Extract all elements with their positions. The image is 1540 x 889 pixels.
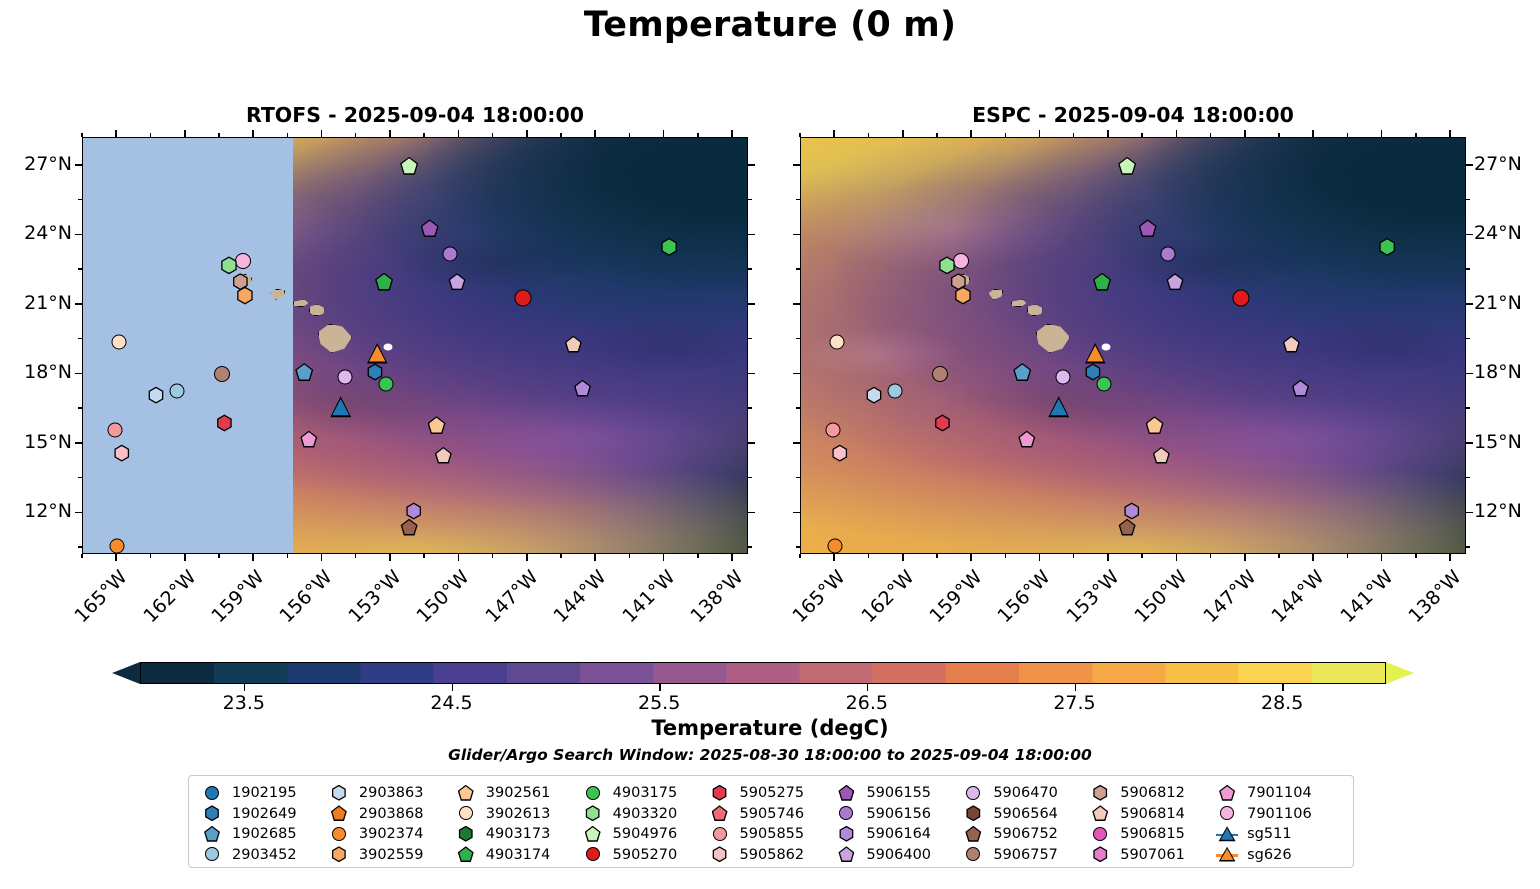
lon-minor-tick	[1005, 133, 1007, 137]
lon-minor-tick	[560, 554, 562, 558]
legend-item-label: 1902685	[232, 826, 297, 842]
espc-map-panel[interactable]	[800, 137, 1466, 554]
legend-item[interactable]: 7901104	[1216, 783, 1343, 804]
legend-item[interactable]: 1902685	[201, 824, 328, 845]
lat-label-left: 27°N	[10, 153, 72, 175]
lon-tick	[731, 554, 733, 561]
legend-marker-icon	[328, 805, 350, 822]
legend-item[interactable]: 7901106	[1216, 804, 1343, 825]
colorbar-tick	[1075, 684, 1076, 691]
legend-item[interactable]: 1902195	[201, 783, 328, 804]
legend-item-label: 7901106	[1247, 806, 1312, 822]
legend-item-label: 2903863	[359, 785, 424, 801]
legend-marker-icon	[835, 805, 857, 822]
legend-marker-icon	[328, 785, 350, 802]
lon-minor-tick	[1141, 554, 1143, 558]
lat-tick	[793, 512, 800, 514]
lon-tick	[731, 130, 733, 137]
argo-marker-7901106[interactable]	[235, 253, 251, 269]
legend-item[interactable]: 2903863	[328, 783, 455, 804]
lon-minor-tick	[492, 554, 494, 558]
lon-label: 141°W	[1335, 566, 1397, 628]
legend-item-label: 5905275	[740, 785, 805, 801]
lat-tick	[748, 164, 755, 166]
lat-minor-tick	[78, 546, 82, 548]
legend-item-label: 5907061	[1120, 847, 1185, 863]
legend-item[interactable]: sg626	[1216, 845, 1343, 866]
lon-minor-tick	[355, 133, 357, 137]
colorbar-tick-label: 25.5	[638, 692, 680, 714]
lon-tick	[252, 554, 254, 561]
lon-tick	[1244, 130, 1246, 137]
legend-marker-icon	[582, 826, 604, 843]
lon-minor-tick	[355, 554, 357, 558]
lon-minor-tick	[936, 133, 938, 137]
colorbar-gradient	[140, 662, 1386, 684]
argo-marker-3902613[interactable]	[830, 334, 845, 349]
legend-item[interactable]: 5905270	[582, 845, 709, 866]
lat-tick	[75, 512, 82, 514]
legend-item[interactable]: 4903173	[455, 824, 582, 845]
lon-minor-tick	[697, 133, 699, 137]
legend-item[interactable]: 5906400	[835, 845, 962, 866]
colorbar-tick	[452, 684, 453, 691]
lat-label-right: 18°N	[1474, 361, 1522, 383]
legend-item-label: 4903173	[486, 826, 551, 842]
lon-minor-tick	[1347, 554, 1349, 558]
page-title: Temperature (0 m)	[0, 5, 1540, 45]
lat-label-right: 24°N	[1474, 222, 1522, 244]
legend-item[interactable]: 2903452	[201, 845, 328, 866]
legend-item[interactable]: 3902374	[328, 824, 455, 845]
legend-item[interactable]: 5906470	[962, 783, 1089, 804]
colorbar-high-extend	[1386, 662, 1414, 684]
lon-tick	[1039, 554, 1041, 561]
lat-label-right: 21°N	[1474, 292, 1522, 314]
legend-item-label: 5906814	[1120, 806, 1185, 822]
legend-marker-icon	[709, 826, 731, 843]
lon-tick	[594, 130, 596, 137]
lon-label: 147°W	[1198, 566, 1260, 628]
legend-item[interactable]: 4903174	[455, 845, 582, 866]
lat-tick	[75, 442, 82, 444]
colorbar-tick-label: 23.5	[223, 692, 265, 714]
legend-item-label: 5906757	[993, 847, 1058, 863]
legend-marker-icon	[582, 805, 604, 822]
lon-minor-tick	[287, 133, 289, 137]
legend-marker-icon	[835, 785, 857, 802]
legend-item[interactable]: 3902559	[328, 845, 455, 866]
lon-tick	[902, 554, 904, 561]
legend-item[interactable]: 5906164	[835, 824, 962, 845]
lon-minor-tick	[1141, 133, 1143, 137]
lon-minor-tick	[81, 554, 83, 558]
argo-marker-5906156[interactable]	[1161, 246, 1176, 261]
rtofs-panel-title: RTOFS - 2025-09-04 18:00:00	[82, 103, 748, 127]
lon-label: 138°W	[1403, 566, 1465, 628]
lon-label: 162°W	[856, 566, 918, 628]
argo-marker-7901106[interactable]	[953, 253, 969, 269]
legend-item-label: 3902559	[359, 847, 424, 863]
legend-item-label: sg511	[1247, 826, 1291, 842]
lon-minor-tick	[492, 133, 494, 137]
legend-marker-icon	[1216, 805, 1238, 822]
lon-minor-tick	[1073, 554, 1075, 558]
lon-tick	[594, 554, 596, 561]
lat-tick	[75, 303, 82, 305]
legend-item-label: 7901104	[1247, 785, 1312, 801]
espc-contour-texture	[801, 138, 1465, 553]
legend-item[interactable]: 5906564	[962, 804, 1089, 825]
lon-tick	[389, 554, 391, 561]
lon-tick	[1176, 554, 1178, 561]
legend-item[interactable]: 5905855	[709, 824, 836, 845]
lon-tick	[115, 130, 117, 137]
lat-label-left: 15°N	[10, 431, 72, 453]
lat-minor-tick	[796, 546, 800, 548]
lat-tick	[748, 373, 755, 375]
lon-tick	[663, 554, 665, 561]
lon-tick	[115, 554, 117, 561]
legend-item[interactable]: 5905275	[709, 783, 836, 804]
lon-minor-tick	[150, 133, 152, 137]
lat-minor-tick	[796, 407, 800, 409]
lon-minor-tick	[218, 554, 220, 558]
legend-marker-icon	[201, 805, 223, 822]
lon-tick	[1244, 554, 1246, 561]
legend-item-label: 5904976	[613, 826, 678, 842]
lat-tick	[748, 303, 755, 305]
legend-item-label: 2903452	[232, 847, 297, 863]
lon-tick	[321, 554, 323, 561]
lat-minor-tick	[1466, 477, 1470, 479]
colorbar-tick-label: 26.5	[846, 692, 888, 714]
argo-marker-5906470[interactable]	[1056, 369, 1071, 384]
legend-item-label: 2903868	[359, 806, 424, 822]
lon-tick	[833, 554, 835, 561]
lat-minor-tick	[1466, 407, 1470, 409]
lon-tick	[1176, 130, 1178, 137]
legend-item-label: 4903320	[613, 806, 678, 822]
colorbar-tick	[659, 684, 660, 691]
legend-item[interactable]: 5906156	[835, 804, 962, 825]
legend-marker-icon	[1089, 826, 1111, 843]
lat-tick	[748, 442, 755, 444]
legend-marker-icon	[835, 826, 857, 843]
lon-tick	[1107, 130, 1109, 137]
lon-minor-tick	[629, 133, 631, 137]
lon-tick	[526, 130, 528, 137]
legend-marker-icon	[1089, 846, 1111, 863]
colorbar-label: Temperature (degC)	[0, 716, 1540, 740]
lon-label: 162°W	[138, 566, 200, 628]
lon-tick	[970, 554, 972, 561]
lon-minor-tick	[1073, 133, 1075, 137]
lat-minor-tick	[748, 407, 752, 409]
lat-minor-tick	[796, 477, 800, 479]
lon-tick	[833, 130, 835, 137]
lon-label: 150°W	[412, 566, 474, 628]
lat-minor-tick	[796, 338, 800, 340]
legend-marker-icon	[328, 826, 350, 843]
colorbar-tick	[1282, 684, 1283, 691]
lat-minor-tick	[748, 199, 752, 201]
lon-label: 159°W	[206, 566, 268, 628]
lat-minor-tick	[748, 477, 752, 479]
argo-marker-5906156[interactable]	[443, 246, 458, 261]
lon-label: 159°W	[924, 566, 986, 628]
lon-label: 138°W	[685, 566, 747, 628]
argo-marker-3902613[interactable]	[112, 334, 127, 349]
lon-minor-tick	[799, 554, 801, 558]
legend-item[interactable]: 3902613	[455, 804, 582, 825]
lat-tick	[1466, 442, 1473, 444]
lat-label-right: 27°N	[1474, 153, 1522, 175]
lat-minor-tick	[1466, 268, 1470, 270]
lon-minor-tick	[1415, 133, 1417, 137]
lat-tick	[793, 303, 800, 305]
lat-minor-tick	[1466, 546, 1470, 548]
legend-item-label: 5906815	[1120, 826, 1185, 842]
argo-marker-5905270[interactable]	[515, 289, 532, 306]
lat-minor-tick	[1466, 338, 1470, 340]
lat-label-left: 12°N	[10, 500, 72, 522]
lon-label: 141°W	[617, 566, 679, 628]
legend-marker-icon	[709, 785, 731, 802]
legend-marker-icon	[709, 805, 731, 822]
argo-marker-4903175[interactable]	[379, 376, 394, 391]
legend-item-label: 5905855	[740, 826, 805, 842]
glider-track-sg626	[384, 344, 393, 351]
lat-tick	[1466, 512, 1473, 514]
legend-item-label: 5906752	[993, 826, 1058, 842]
lat-minor-tick	[1466, 199, 1470, 201]
legend-item[interactable]: 5906752	[962, 824, 1089, 845]
lon-tick	[902, 130, 904, 137]
colorbar: 23.524.525.526.527.528.5	[112, 662, 1414, 684]
legend-item[interactable]: 5906757	[962, 845, 1089, 866]
legend-item[interactable]: 5906155	[835, 783, 962, 804]
legend-marker-icon	[455, 846, 477, 863]
lon-tick	[970, 130, 972, 137]
lat-tick	[1466, 164, 1473, 166]
lon-minor-tick	[868, 133, 870, 137]
legend-item-label: 3902613	[486, 806, 551, 822]
lon-minor-tick	[799, 133, 801, 137]
lon-minor-tick	[218, 133, 220, 137]
lon-label: 153°W	[343, 566, 405, 628]
legend-item-label: 4903175	[613, 785, 678, 801]
legend-item[interactable]: 4903175	[582, 783, 709, 804]
rtofs-map-panel[interactable]	[82, 137, 748, 554]
legend-marker-icon	[455, 805, 477, 822]
legend-marker-icon	[455, 826, 477, 843]
colorbar-tick	[867, 684, 868, 691]
argo-marker-5906470[interactable]	[338, 369, 353, 384]
lon-tick	[252, 130, 254, 137]
legend-item-label: 5906812	[1120, 785, 1185, 801]
lon-label: 156°W	[993, 566, 1055, 628]
search-window-note: Glider/Argo Search Window: 2025-08-30 18…	[0, 746, 1540, 764]
lon-tick	[184, 554, 186, 561]
espc-panel-title: ESPC - 2025-09-04 18:00:00	[800, 103, 1466, 127]
lat-tick	[793, 373, 800, 375]
legend-item[interactable]: 5904976	[582, 824, 709, 845]
lat-minor-tick	[796, 199, 800, 201]
legend-marker-icon	[1216, 846, 1238, 863]
argo-marker-5905855[interactable]	[107, 422, 122, 437]
lat-tick	[793, 164, 800, 166]
lat-minor-tick	[748, 338, 752, 340]
lat-tick	[75, 164, 82, 166]
lat-label-right: 12°N	[1474, 500, 1522, 522]
legend-grid: 1902195190264919026852903452290386329038…	[201, 783, 1343, 865]
legend-marker-icon	[962, 805, 984, 822]
lon-tick	[458, 554, 460, 561]
legend-item-label: 3902561	[486, 785, 551, 801]
lon-tick	[663, 130, 665, 137]
lon-minor-tick	[1005, 554, 1007, 558]
legend-item-label: 5906155	[866, 785, 931, 801]
lon-tick	[184, 130, 186, 137]
lat-tick	[1466, 373, 1473, 375]
lon-minor-tick	[1210, 554, 1212, 558]
lat-tick	[793, 442, 800, 444]
legend-item-label: 4903174	[486, 847, 551, 863]
lon-minor-tick	[629, 554, 631, 558]
marker-legend: 1902195190264919026852903452290386329038…	[188, 775, 1354, 868]
glider-track-sg626	[1102, 344, 1111, 351]
lon-tick	[1381, 554, 1383, 561]
argo-marker-5905855[interactable]	[825, 422, 840, 437]
argo-marker-5905270[interactable]	[1233, 289, 1250, 306]
lon-minor-tick	[81, 133, 83, 137]
colorbar-tick-label: 28.5	[1261, 692, 1303, 714]
legend-item-label: sg626	[1247, 847, 1291, 863]
lat-tick	[75, 234, 82, 236]
colorbar-tick-label: 24.5	[430, 692, 472, 714]
colorbar-low-extend	[112, 662, 140, 684]
lat-minor-tick	[78, 477, 82, 479]
lat-minor-tick	[748, 268, 752, 270]
lat-minor-tick	[796, 268, 800, 270]
lat-minor-tick	[78, 268, 82, 270]
legend-item[interactable]: 1902649	[201, 804, 328, 825]
legend-item-label: 3902374	[359, 826, 424, 842]
legend-item-label: 5905746	[740, 806, 805, 822]
lon-tick	[526, 554, 528, 561]
legend-marker-icon	[1089, 805, 1111, 822]
lat-minor-tick	[78, 199, 82, 201]
legend-item-label: 1902649	[232, 806, 297, 822]
lon-tick	[1449, 554, 1451, 561]
legend-marker-icon	[709, 846, 731, 863]
argo-marker-2903452[interactable]	[169, 383, 184, 398]
legend-item[interactable]: 3902561	[455, 783, 582, 804]
argo-marker-4903175[interactable]	[1097, 376, 1112, 391]
lat-label-left: 18°N	[10, 361, 72, 383]
lat-tick	[793, 234, 800, 236]
lat-tick	[1466, 303, 1473, 305]
lon-minor-tick	[1210, 133, 1212, 137]
lon-minor-tick	[560, 133, 562, 137]
lon-minor-tick	[1278, 554, 1280, 558]
legend-item-label: 5906470	[993, 785, 1058, 801]
lon-tick	[1381, 130, 1383, 137]
legend-marker-icon	[201, 785, 223, 802]
legend-item[interactable]: 5907061	[1089, 845, 1216, 866]
lat-minor-tick	[78, 407, 82, 409]
legend-item-label: 5906400	[866, 847, 931, 863]
argo-marker-5906757[interactable]	[932, 366, 948, 382]
legend-marker-icon	[582, 785, 604, 802]
legend-marker-icon	[1216, 785, 1238, 802]
legend-item-label: 5906564	[993, 806, 1058, 822]
lon-minor-tick	[936, 554, 938, 558]
legend-item[interactable]: 5906814	[1089, 804, 1216, 825]
lon-label: 153°W	[1061, 566, 1123, 628]
lon-label: 156°W	[275, 566, 337, 628]
legend-marker-icon	[582, 846, 604, 863]
legend-item[interactable]: 5906815	[1089, 824, 1216, 845]
legend-marker-icon	[201, 826, 223, 843]
legend-marker-icon	[455, 785, 477, 802]
lon-tick	[321, 130, 323, 137]
legend-marker-icon	[1216, 826, 1238, 843]
lon-minor-tick	[287, 554, 289, 558]
lon-label: 144°W	[1267, 566, 1329, 628]
lon-tick	[389, 130, 391, 137]
lat-label-left: 21°N	[10, 292, 72, 314]
lon-tick	[458, 130, 460, 137]
legend-item[interactable]: 5905746	[709, 804, 836, 825]
lat-minor-tick	[78, 338, 82, 340]
legend-marker-icon	[962, 826, 984, 843]
lon-minor-tick	[868, 554, 870, 558]
lon-minor-tick	[150, 554, 152, 558]
lon-minor-tick	[1415, 554, 1417, 558]
legend-item-label: 1902195	[232, 785, 297, 801]
legend-item[interactable]: 5906812	[1089, 783, 1216, 804]
legend-marker-icon	[201, 846, 223, 863]
legend-marker-icon	[962, 785, 984, 802]
legend-marker-icon	[328, 846, 350, 863]
argo-marker-2903452[interactable]	[887, 383, 902, 398]
lon-label: 150°W	[1130, 566, 1192, 628]
lon-minor-tick	[1278, 133, 1280, 137]
lat-tick	[75, 373, 82, 375]
legend-marker-icon	[962, 846, 984, 863]
legend-marker-icon	[835, 846, 857, 863]
legend-item[interactable]: 5905862	[709, 845, 836, 866]
legend-item[interactable]: 2903868	[328, 804, 455, 825]
lon-label: 147°W	[480, 566, 542, 628]
colorbar-tick	[244, 684, 245, 691]
lon-minor-tick	[697, 554, 699, 558]
lat-tick	[748, 234, 755, 236]
legend-item-label: 5906156	[866, 806, 931, 822]
legend-item[interactable]: sg511	[1216, 824, 1343, 845]
argo-marker-3902374[interactable]	[110, 538, 125, 553]
legend-item-label: 5905862	[740, 847, 805, 863]
argo-marker-3902374[interactable]	[828, 538, 843, 553]
lon-minor-tick	[423, 554, 425, 558]
lon-label: 165°W	[70, 566, 132, 628]
argo-marker-5906757[interactable]	[214, 366, 230, 382]
lon-tick	[1449, 130, 1451, 137]
lat-tick	[748, 512, 755, 514]
legend-item[interactable]: 4903320	[582, 804, 709, 825]
